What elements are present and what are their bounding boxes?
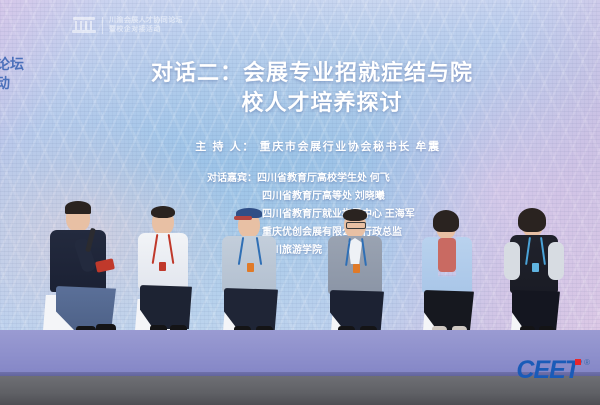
torso: [138, 233, 188, 289]
top-inner: [438, 238, 456, 272]
logo-divider: [102, 17, 103, 34]
badge: [159, 262, 166, 271]
conference-panel-photo: 川渝会展人才协同论坛 暨校企对接活动 论坛 动 对话二：会展专业招就症结与院 校…: [0, 0, 600, 405]
person-panelist-5: [496, 208, 586, 344]
person-panelist-1: [126, 205, 218, 343]
person-panelist-3: [318, 208, 410, 344]
stage-floor: [0, 330, 600, 375]
glasses-icon: [346, 222, 366, 229]
guest-row: 对话嘉宾： 四川省教育厅高校学生处 何飞: [207, 172, 507, 186]
event-logo: 川渝会展人才协同论坛 暨校企对接活动: [72, 10, 192, 40]
cap-brim: [234, 216, 252, 220]
event-logo-line2: 暨校企对接活动: [109, 26, 183, 34]
person-panelist-4: [410, 210, 496, 344]
registered-mark: ®: [584, 358, 590, 367]
person-panelist-2: [212, 206, 304, 344]
stage-front-panel: [0, 376, 600, 405]
ceet-logo: CEET ®: [516, 357, 590, 383]
host-line: 主 持 人： 重庆市会展行业协会秘书长 牟震: [0, 138, 600, 154]
guest-row: 四川省教育厅高等处 刘晓曦: [207, 190, 507, 204]
badge: [532, 263, 539, 272]
slide-title: 对话二：会展专业招就症结与院 校人才培养探讨: [0, 58, 600, 118]
red-phone: [95, 258, 115, 273]
ceet-accent-square: [575, 359, 581, 365]
guest-name-2: 四川省教育厅高等处 刘晓曦: [262, 190, 385, 204]
slide-title-line1: 对话二：会展专业招就症结与院: [0, 58, 600, 88]
classical-building-icon: [72, 15, 96, 35]
hair: [65, 201, 91, 214]
sleeve-right: [548, 242, 564, 280]
hair: [343, 209, 367, 221]
guest-list-label: 对话嘉宾：: [207, 172, 257, 186]
sleeve-left: [504, 242, 520, 280]
hair: [151, 206, 175, 218]
ceet-logo-text: CEET: [516, 357, 579, 383]
event-logo-line1: 川渝会展人才协同论坛: [109, 17, 183, 25]
hair: [518, 208, 546, 232]
badge: [247, 263, 254, 272]
hair: [433, 210, 459, 232]
badge: [353, 264, 360, 273]
guest-name-1: 四川省教育厅高校学生处 何飞: [257, 172, 390, 186]
slide-title-line2: 校人才培养探讨: [0, 88, 600, 118]
